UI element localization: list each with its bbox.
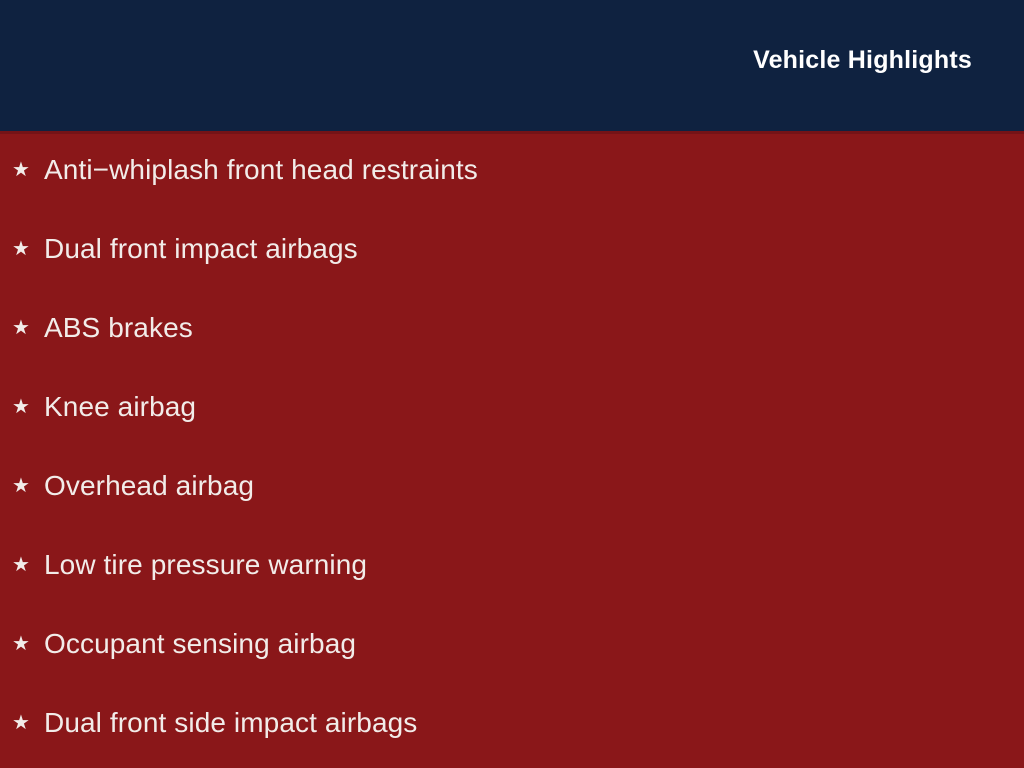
- vehicle-highlights-list: ★ Anti−whiplash front head restraints ★ …: [0, 150, 1024, 768]
- list-item: ★ Knee airbag: [0, 387, 1024, 466]
- list-item: ★ Occupant sensing airbag: [0, 624, 1024, 703]
- list-item: ★ Low tire pressure warning: [0, 545, 1024, 624]
- header-divider: [0, 131, 1024, 134]
- star-icon: ★: [12, 709, 34, 737]
- list-item: ★ Overhead airbag: [0, 466, 1024, 545]
- star-icon: ★: [12, 156, 34, 184]
- list-item: ★ Dual front side impact airbags: [0, 703, 1024, 768]
- list-item: ★ ABS brakes: [0, 308, 1024, 387]
- star-icon: ★: [12, 235, 34, 263]
- star-icon: ★: [12, 393, 34, 421]
- list-item: ★ Dual front impact airbags: [0, 229, 1024, 308]
- list-item-label: Dual front side impact airbags: [44, 703, 417, 743]
- slide: Vehicle Highlights ★ Anti−whiplash front…: [0, 0, 1024, 768]
- list-item-label: Overhead airbag: [44, 466, 254, 506]
- list-item-label: Low tire pressure warning: [44, 545, 367, 585]
- list-item-label: ABS brakes: [44, 308, 193, 348]
- page-title: Vehicle Highlights: [753, 46, 972, 75]
- list-item: ★ Anti−whiplash front head restraints: [0, 150, 1024, 229]
- list-item-label: Knee airbag: [44, 387, 196, 427]
- star-icon: ★: [12, 472, 34, 500]
- list-item-label: Dual front impact airbags: [44, 229, 358, 269]
- list-item-label: Anti−whiplash front head restraints: [44, 150, 478, 190]
- star-icon: ★: [12, 630, 34, 658]
- star-icon: ★: [12, 314, 34, 342]
- star-icon: ★: [12, 551, 34, 579]
- list-item-label: Occupant sensing airbag: [44, 624, 356, 664]
